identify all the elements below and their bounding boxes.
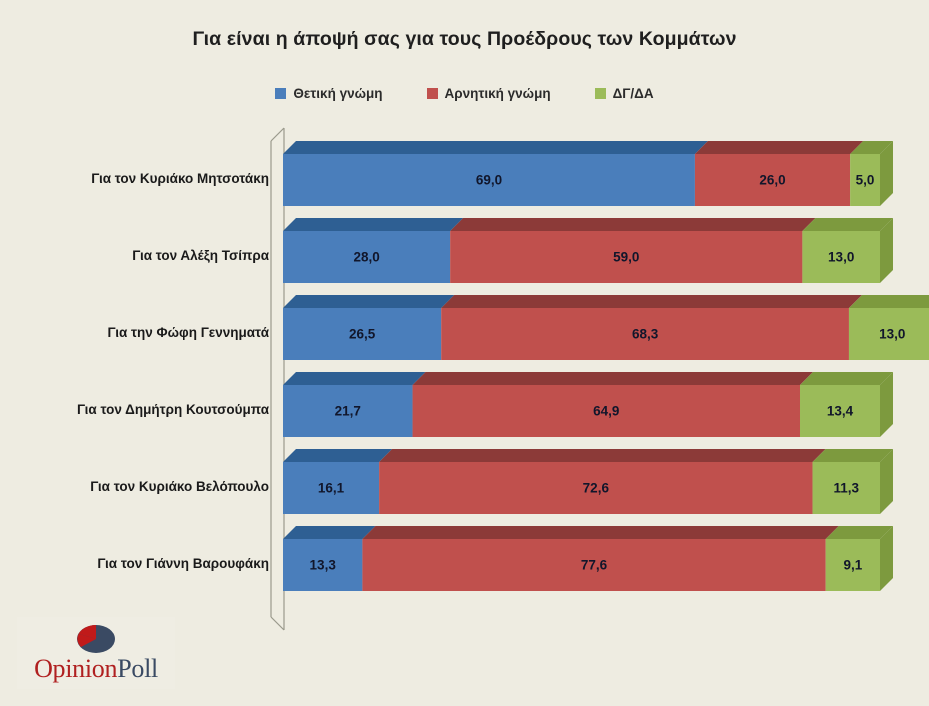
bar-value-label: 13,0: [879, 327, 905, 342]
logo-text-poll: Poll: [117, 654, 158, 683]
category-label: Για την Φώφη Γεννηματά: [9, 325, 269, 340]
bar-value-label: 16,1: [318, 481, 344, 496]
bar-value-label: 26,0: [759, 173, 785, 188]
bar-value-label: 13,0: [828, 250, 854, 265]
chart-root: Για είναι η άποψή σας για τους Προέδρους…: [0, 0, 929, 706]
logo-text-opinion: Opinion: [34, 654, 117, 683]
bar-value-label: 9,1: [843, 558, 862, 573]
bar-row: [283, 449, 893, 514]
chart-legend: Θετική γνώμη Αρνητική γνώμη ΔΓ/ΔΑ: [0, 86, 929, 101]
bar-value-label: 68,3: [632, 327, 658, 342]
legend-swatch-positive: [275, 88, 286, 99]
legend-item-negative: Αρνητική γνώμη: [427, 86, 551, 101]
legend-swatch-negative: [427, 88, 438, 99]
bar-value-label: 13,4: [827, 404, 853, 419]
bars-svg: [0, 0, 929, 706]
bar-value-label: 28,0: [353, 250, 379, 265]
bar-row: [283, 141, 893, 206]
bar-row: [283, 218, 893, 283]
bar-row: [283, 526, 893, 591]
category-label: Για τον Κυριάκο Μητσοτάκη: [9, 171, 269, 186]
bar-value-label: 11,3: [834, 481, 860, 496]
bar-value-label: 13,3: [310, 558, 336, 573]
legend-label-negative: Αρνητική γνώμη: [445, 86, 551, 101]
legend-label-dontknow: ΔΓ/ΔΑ: [613, 86, 654, 101]
legend-item-positive: Θετική γνώμη: [275, 86, 382, 101]
category-label: Για τον Αλέξη Τσίπρα: [9, 248, 269, 263]
bar-value-label: 5,0: [856, 173, 875, 188]
legend-label-positive: Θετική γνώμη: [293, 86, 382, 101]
page-title: Για είναι η άποψή σας για τους Προέδρους…: [0, 28, 929, 51]
bar-row: [283, 372, 893, 437]
bar-value-label: 21,7: [335, 404, 361, 419]
legend-item-dontknow: ΔΓ/ΔΑ: [595, 86, 654, 101]
category-label: Για τον Κυριάκο Βελόπουλο: [9, 479, 269, 494]
legend-swatch-dontknow: [595, 88, 606, 99]
bar-value-label: 59,0: [613, 250, 639, 265]
bar-value-label: 69,0: [476, 173, 502, 188]
bar-value-label: 26,5: [349, 327, 375, 342]
bar-value-label: 64,9: [593, 404, 619, 419]
category-label: Για τον Γιάννη Βαρουφάκη: [9, 556, 269, 571]
pie-logo-icon: [70, 624, 122, 654]
bar-value-label: 77,6: [581, 558, 607, 573]
plot-area: Για τον Κυριάκο ΜητσοτάκηΓια τον Αλέξη Τ…: [0, 0, 929, 706]
logo-wordmark: OpinionPoll: [34, 656, 158, 682]
opinionpoll-logo: OpinionPoll: [17, 617, 175, 689]
category-label: Για τον Δημήτρη Κουτσούμπα: [9, 402, 269, 417]
bar-row: [283, 295, 929, 360]
bar-value-label: 72,6: [583, 481, 609, 496]
axis-wall: [271, 128, 284, 630]
